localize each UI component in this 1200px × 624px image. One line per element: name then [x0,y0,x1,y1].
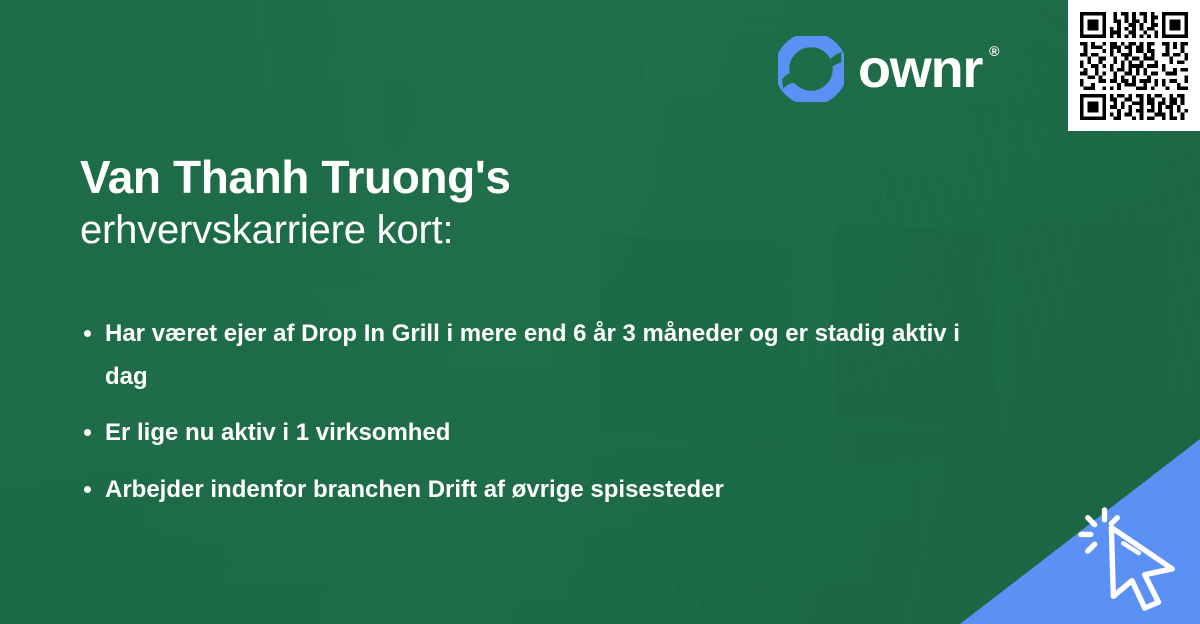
list-item: Arbejder indenfor branchen Drift af øvri… [80,469,960,512]
list-item: Har været ejer af Drop In Grill i mere e… [80,313,960,398]
career-facts-list: Har været ejer af Drop In Grill i mere e… [80,313,960,512]
background-office-photo [0,0,1200,624]
ownr-logo[interactable]: ownr ® [778,36,982,102]
green-gradient-overlay [0,0,1200,624]
list-item: Er lige nu aktiv i 1 virksomhed [80,412,960,455]
ownr-circular-swirl-logo-icon [778,36,844,102]
bullet-icon [84,330,91,337]
registered-trademark-symbol: ® [989,44,998,58]
bullet-icon [84,486,91,493]
page-title: Van Thanh Truong's [80,152,511,204]
list-item-text: Arbejder indenfor branchen Drift af øvri… [105,469,960,512]
bullet-icon [84,429,91,436]
list-item-text: Har været ejer af Drop In Grill i mere e… [105,313,960,398]
page-subtitle: erhvervskarriere kort: [80,208,453,253]
qr-code[interactable] [1068,0,1200,131]
click-cursor-icon [1078,504,1186,612]
ownr-wordmark: ownr ® [858,42,982,96]
list-item-text: Er lige nu aktiv i 1 virksomhed [105,412,960,455]
business-career-card: ownr ® Van Thanh Truong's erhvervskarrie… [0,0,1200,624]
ownr-wordmark-text: ownr [858,39,982,99]
